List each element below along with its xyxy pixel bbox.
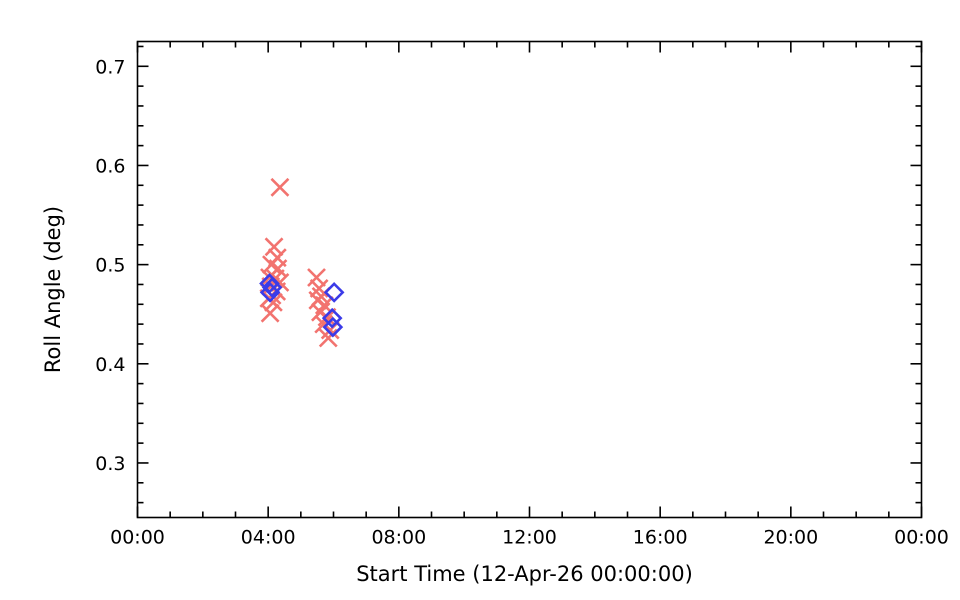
- plot-frame: [138, 42, 922, 518]
- x-tick-label: 04:00: [241, 527, 296, 549]
- x-tick-label: 00:00: [110, 527, 165, 549]
- y-tick-label: 0.5: [95, 255, 125, 277]
- data-point-x: [271, 179, 288, 196]
- y-tick-label: 0.7: [95, 56, 125, 78]
- x-tick-label: 20:00: [763, 527, 818, 549]
- y-tick-label: 0.6: [95, 155, 125, 177]
- x-axis-title: Start Time (12-Apr-26 00:00:00): [356, 562, 693, 586]
- y-axis-title: Roll Angle (deg): [41, 206, 65, 373]
- scatter-plot: 00:0004:0008:0012:0016:0020:0000:000.70.…: [0, 0, 960, 600]
- x-tick-label: 12:00: [502, 527, 557, 549]
- chart-figure: 00:0004:0008:0012:0016:0020:0000:000.70.…: [0, 0, 960, 600]
- y-tick-label: 0.3: [95, 453, 125, 475]
- x-tick-label: 08:00: [371, 527, 426, 549]
- x-tick-label: 00:00: [894, 527, 949, 549]
- data-point-diamond: [326, 284, 343, 301]
- y-tick-label: 0.4: [95, 354, 125, 376]
- x-tick-label: 16:00: [633, 527, 688, 549]
